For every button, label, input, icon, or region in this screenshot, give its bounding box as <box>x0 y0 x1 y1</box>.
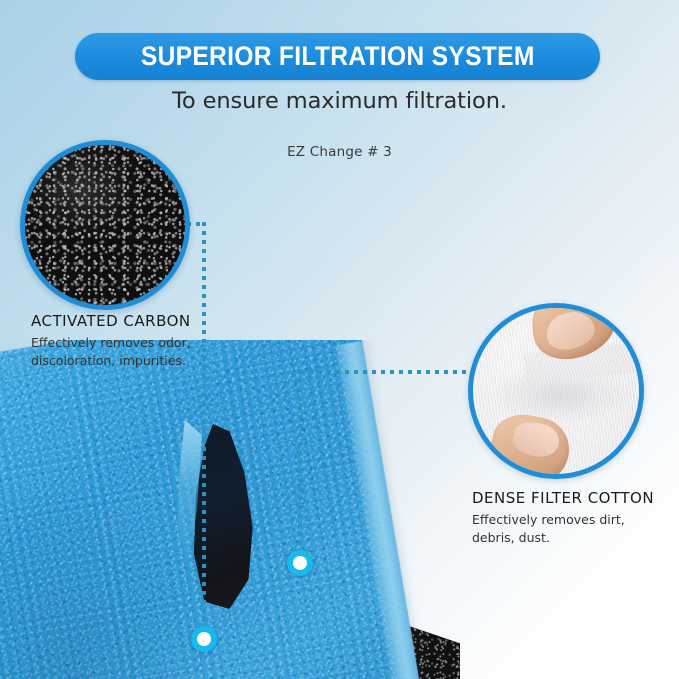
connector-carbon-vertical <box>202 222 206 636</box>
callout-title-dense-filter-cotton: DENSE FILTER COTTON <box>472 489 654 507</box>
connector-cotton-horizontal <box>300 370 476 374</box>
marker-dot-carbon <box>191 626 217 652</box>
title-banner: SUPERIOR FILTRATION SYSTEM <box>75 33 600 80</box>
callout-description-dense-filter-cotton: Effectively removes dirt, debris, dust. <box>472 511 662 547</box>
carbon-photo-circle <box>20 140 190 310</box>
cotton-photo-circle <box>468 303 644 479</box>
marker-dot-cotton <box>287 550 313 576</box>
connector-cotton-vertical <box>298 370 302 562</box>
fingernail-bottom <box>510 419 562 461</box>
product-photo <box>0 340 460 679</box>
callout-title-activated-carbon: ACTIVATED CARBON <box>31 312 191 330</box>
infographic-canvas: SUPERIOR FILTRATION SYSTEM To ensure max… <box>0 0 679 679</box>
fingernail-top <box>542 307 598 355</box>
banner-title-text: SUPERIOR FILTRATION SYSTEM <box>141 41 535 72</box>
subtitle-text: To ensure maximum filtration. <box>0 88 679 114</box>
callout-description-activated-carbon: Effectively removes odor, discoloration,… <box>31 334 231 370</box>
